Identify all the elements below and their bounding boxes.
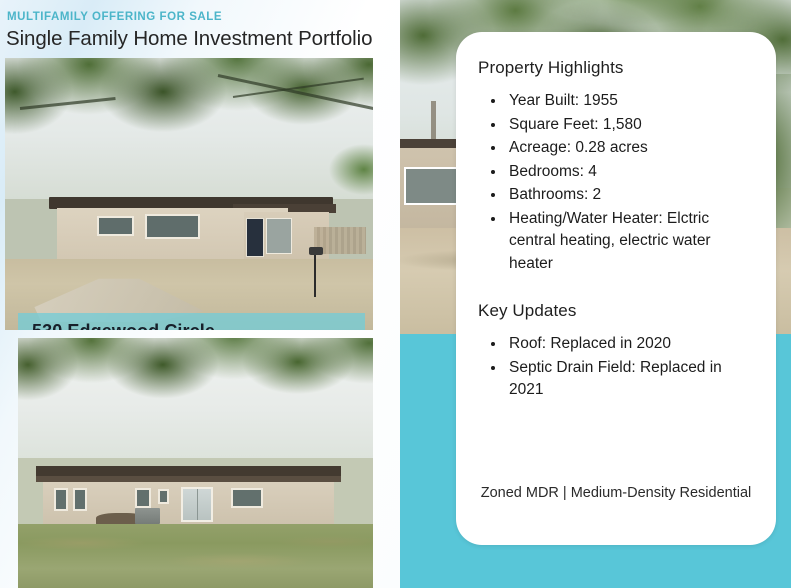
front-mailbox [314, 254, 316, 298]
list-item: Roof: Replaced in 2020 [506, 333, 754, 356]
rear-photo-canopy [18, 338, 373, 443]
photo-caption-band: 530 Edgewood Circle This West Pensacola … [18, 313, 365, 330]
list-item: Square Feet: 1,580 [506, 114, 754, 137]
property-address: 530 Edgewood Circle [32, 321, 351, 330]
list-item: Septic Drain Field: Replaced in 2021 [506, 357, 754, 402]
front-photo-palm [299, 134, 373, 205]
ac-condenser-unit [135, 508, 160, 524]
front-door [246, 218, 264, 256]
rear-roofline [36, 466, 341, 476]
page-title: Single Family Home Investment Portfolio [6, 27, 372, 51]
list-item: Bathrooms: 2 [506, 184, 754, 207]
rear-exterior-photo [18, 338, 373, 588]
list-item: Acreage: 0.28 acres [506, 137, 754, 160]
offering-eyebrow: MULTIFAMILY OFFERING FOR SALE [7, 11, 222, 23]
rear-lawn [18, 524, 373, 588]
list-item: Bedrooms: 4 [506, 161, 754, 184]
property-highlights-title: Property Highlights [478, 58, 754, 78]
rear-window [73, 488, 87, 511]
rear-patio-door [181, 487, 213, 522]
property-info-card: Property Highlights Year Built: 1955 Squ… [456, 32, 776, 545]
key-updates-list: Roof: Replaced in 2020 Septic Drain Fiel… [478, 333, 754, 402]
front-window [97, 216, 134, 236]
list-item: Heating/Water Heater: Elctric central he… [506, 208, 754, 276]
front-exterior-photo: 530 Edgewood Circle This West Pensacola … [5, 58, 373, 330]
front-sidelight-window [266, 218, 292, 253]
rear-window [231, 488, 263, 508]
zoning-note: Zoned MDR | Medium-Density Residential [456, 485, 776, 501]
front-window [145, 214, 200, 238]
key-updates-title: Key Updates [478, 301, 754, 321]
rear-window [54, 488, 68, 511]
rear-window [135, 488, 151, 508]
property-highlights-list: Year Built: 1955 Square Feet: 1,580 Acre… [478, 90, 754, 275]
list-item: Year Built: 1955 [506, 90, 754, 113]
rear-window [158, 489, 169, 504]
